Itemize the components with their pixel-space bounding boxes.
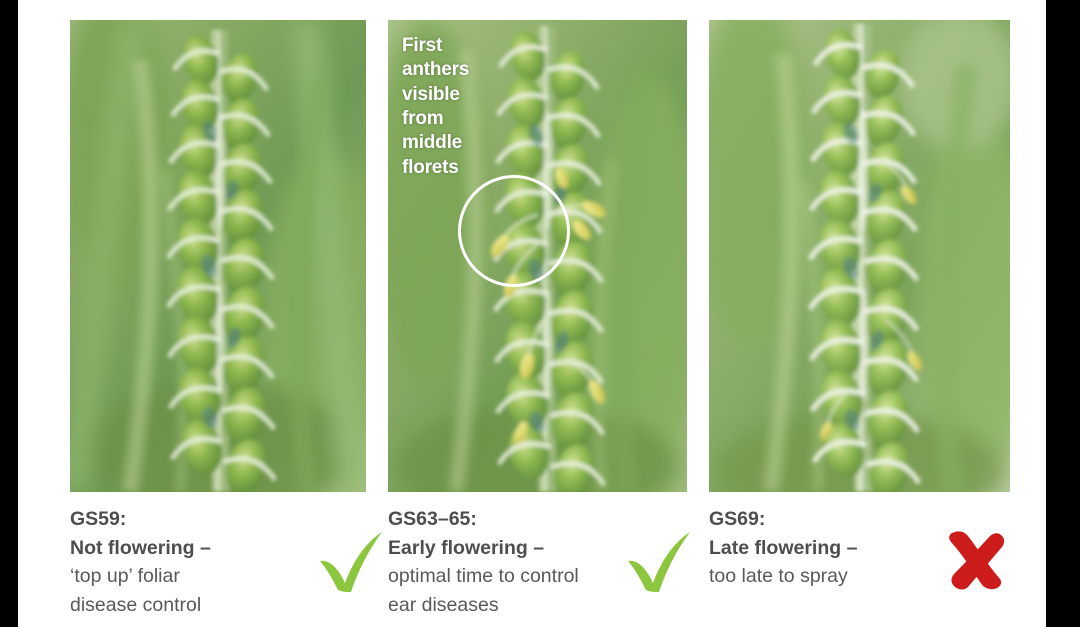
anno-line-3: visible [402, 84, 460, 105]
letterbox-left [0, 0, 18, 627]
caption-gs59: GS59: Not flowering – ‘top up’ foliar di… [70, 505, 320, 620]
caption-gs69: GS69: Late flowering – too late to spray [709, 505, 959, 591]
letterbox-right [1046, 0, 1080, 627]
panel-gs59 [70, 20, 366, 492]
stage-detail-line-2: disease control [70, 591, 320, 620]
anno-line-6: florets [402, 157, 459, 178]
highlight-circle-icon [458, 175, 570, 287]
stage-detail-line-1: too late to spray [709, 562, 959, 591]
stage-code: GS63–65: [388, 505, 688, 534]
anno-line-1: First [402, 35, 442, 56]
stage-detail-line-1: ‘top up’ foliar [70, 562, 320, 591]
green-tick-icon [318, 531, 386, 598]
stage-name: Not flowering – [70, 534, 320, 563]
stage-code: GS59: [70, 505, 320, 534]
stage-name: Late flowering – [709, 534, 959, 563]
stage-code: GS69: [709, 505, 959, 534]
anno-line-4: from [402, 108, 443, 129]
panel-gs63-65: First anthers visible from middle floret… [388, 20, 687, 492]
anthers-annotation-text: First anthers visible from middle floret… [402, 34, 498, 180]
green-tick-icon [626, 531, 694, 598]
wheat-ear-late-flowering-photo [709, 20, 1010, 492]
panel-gs69 [709, 20, 1010, 492]
anno-line-2: anthers [402, 59, 469, 80]
figure-root: GS59: Not flowering – ‘top up’ foliar di… [0, 0, 1080, 627]
wheat-ear-not-flowering-photo [70, 20, 366, 492]
red-cross-icon [944, 529, 1010, 596]
anno-line-5: middle [402, 132, 462, 153]
